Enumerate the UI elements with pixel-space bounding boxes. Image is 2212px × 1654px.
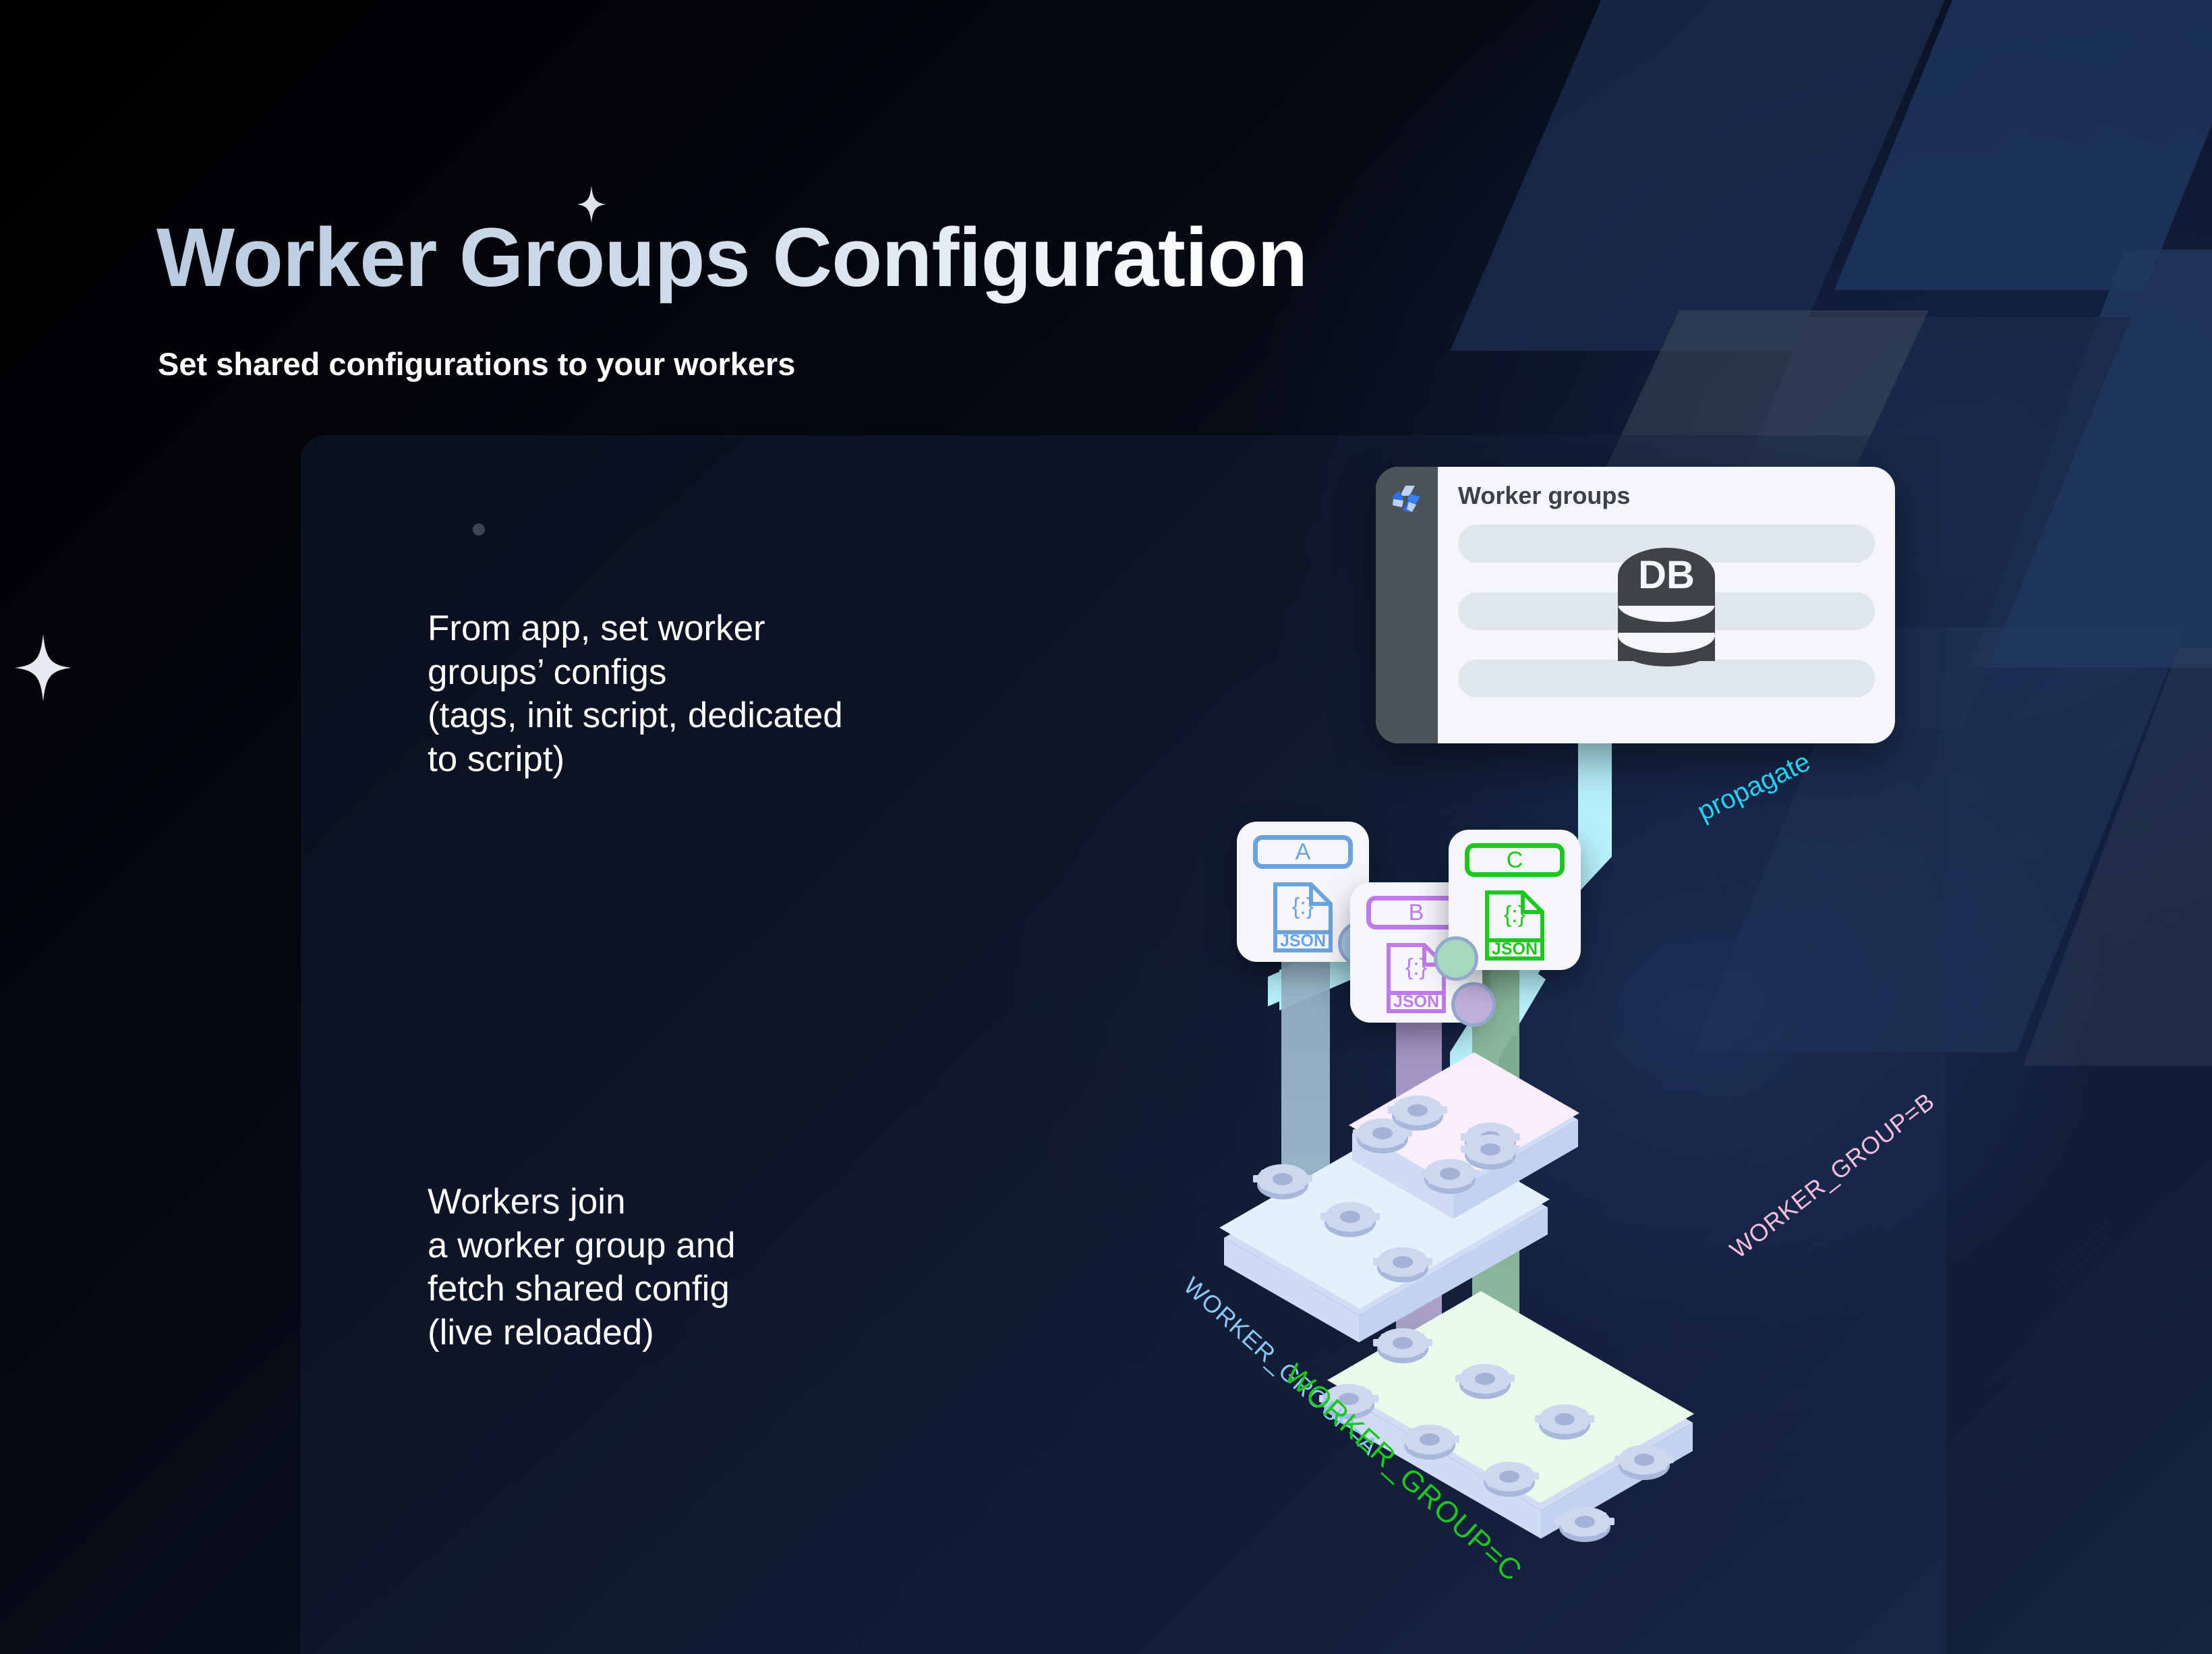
json-file-icon: {:} JSON xyxy=(1272,881,1334,957)
group-card-c[interactable]: C {:} JSON xyxy=(1449,830,1581,970)
json-braces-c: {:} xyxy=(1504,902,1525,928)
json-braces-a: {:} xyxy=(1292,894,1314,919)
page-title: Worker Groups Configuration xyxy=(156,210,1307,306)
sparkle-star-icon xyxy=(15,634,71,705)
windmill-logo-icon xyxy=(1389,484,1424,743)
group-card-a[interactable]: A {:} JSON xyxy=(1237,822,1369,962)
worker-groups-diagram: Worker groups xyxy=(1045,425,2212,1654)
db-label: DB xyxy=(1638,553,1695,597)
connector-dot-c xyxy=(1434,936,1478,981)
page-subtitle: Set shared configurations to your worker… xyxy=(158,345,795,382)
group-pill-c: C xyxy=(1465,843,1565,877)
json-label-c: JSON xyxy=(1492,940,1538,959)
database-icon: DB xyxy=(1607,546,1726,694)
connector-dot-b xyxy=(1451,982,1496,1027)
description-paragraph-1: From app, set worker groups’ configs (ta… xyxy=(428,607,843,782)
slide-canvas: Worker Groups Configuration Set shared c… xyxy=(0,0,2212,1654)
window-sidebar xyxy=(1376,467,1438,743)
json-label-a: JSON xyxy=(1280,932,1326,950)
json-file-icon: {:} JSON xyxy=(1484,889,1546,965)
window-title: Worker groups xyxy=(1458,482,1876,510)
json-braces-b: {:} xyxy=(1405,954,1427,980)
description-paragraph-2: Workers join a worker group and fetch sh… xyxy=(428,1180,736,1355)
group-pill-a: A xyxy=(1253,835,1353,869)
json-label-b: JSON xyxy=(1393,992,1439,1011)
window-body: Worker groups xyxy=(1438,467,1895,743)
worker-groups-window[interactable]: Worker groups xyxy=(1376,467,1895,743)
